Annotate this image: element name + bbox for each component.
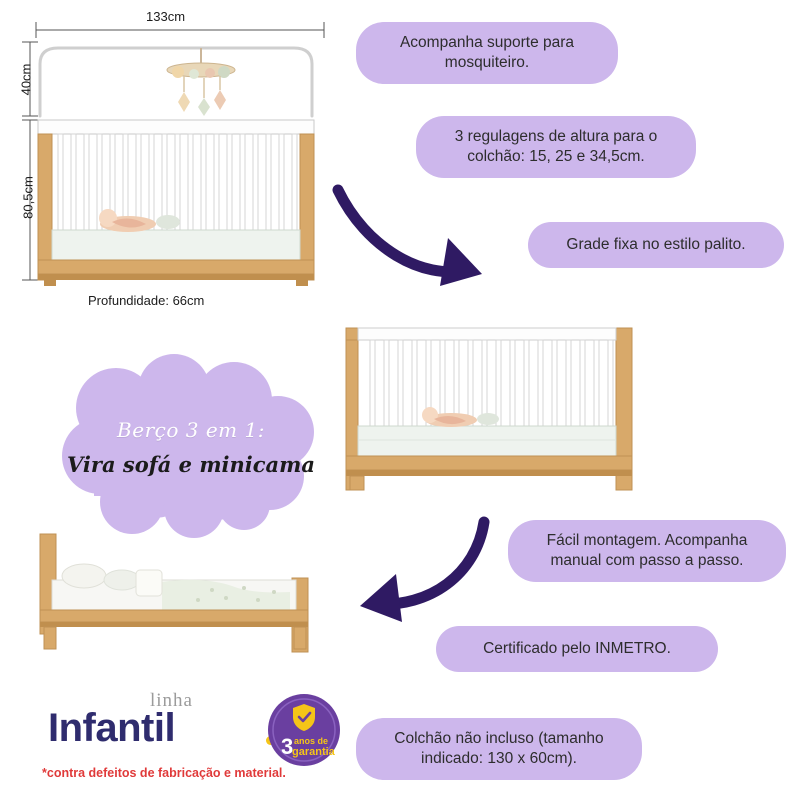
callout-mosquito-net: Acompanha suporte para mosquiteiro. bbox=[356, 22, 618, 84]
brand-logo-block: linha Infantil 3 anos de garantia *contr… bbox=[38, 690, 328, 786]
width-dimension-label: 133cm bbox=[146, 9, 185, 24]
depth-dimension-label: Profundidade: 66cm bbox=[88, 293, 204, 308]
seal-years: anos de bbox=[294, 736, 328, 746]
crib-height-dimension-label: 80,5cm bbox=[21, 168, 36, 228]
callout-fixed-rail: Grade fixa no estilo palito. bbox=[528, 222, 784, 268]
callout-text: Colchão não incluso (tamanho indicado: 1… bbox=[370, 729, 628, 770]
cloud-line-2: Vira sofá e minicama bbox=[67, 452, 315, 477]
callout-text: Fácil montagem. Acompanha manual com pas… bbox=[522, 531, 772, 572]
callout-text: Grade fixa no estilo palito. bbox=[566, 235, 745, 255]
mobile-height-dimension-label: 40cm bbox=[19, 60, 34, 100]
callout-easy-assembly: Fácil montagem. Acompanha manual com pas… bbox=[508, 520, 786, 582]
infographic-canvas: 133cm 40cm 80,5cm Profundidade: 66cm Aco… bbox=[0, 0, 800, 800]
logo-infantil-text: Infantil bbox=[48, 706, 175, 751]
cloud-callout-3in1: Berço 3 em 1: Vira sofá e minicama bbox=[58, 352, 324, 542]
callout-mattress-heights: 3 regulagens de altura para o colchão: 1… bbox=[416, 116, 696, 178]
baby-mobile-icon bbox=[167, 48, 235, 116]
callout-text: 3 regulagens de altura para o colchão: 1… bbox=[430, 127, 682, 168]
curved-arrow-icon-2 bbox=[326, 512, 516, 652]
callout-mattress-not-included: Colchão não incluso (tamanho indicado: 1… bbox=[356, 718, 642, 780]
seal-warranty: garantia bbox=[292, 746, 336, 758]
callout-text: Acompanha suporte para mosquiteiro. bbox=[370, 33, 604, 74]
warranty-note: *contra defeitos de fabricação e materia… bbox=[42, 766, 286, 780]
crib-dimension-illustration bbox=[8, 8, 348, 308]
curved-arrow-icon-1 bbox=[330, 178, 520, 308]
warranty-seal: 3 anos de garantia bbox=[266, 692, 342, 768]
minibed-mode-illustration bbox=[12, 528, 332, 688]
cloud-line-1: Berço 3 em 1: bbox=[117, 418, 265, 442]
sofa-mode-illustration bbox=[326, 320, 656, 520]
